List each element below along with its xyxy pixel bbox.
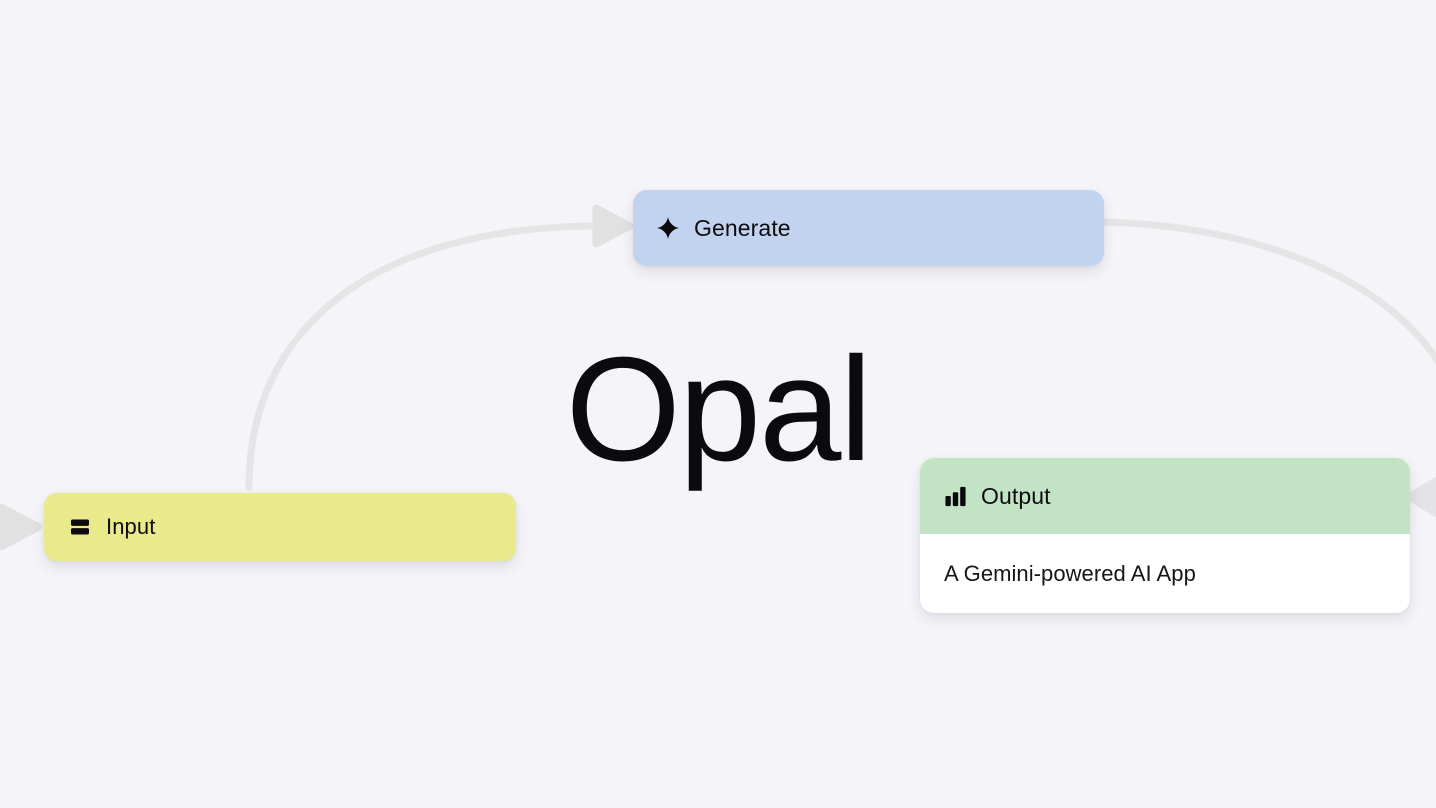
opal-wordmark: Opal xyxy=(0,336,1436,484)
node-output-body: A Gemini-powered AI App xyxy=(920,534,1410,613)
bar-chart-icon xyxy=(942,483,968,509)
node-input-header: Input xyxy=(44,493,516,561)
node-input-label: Input xyxy=(106,516,155,538)
node-input[interactable]: Input xyxy=(44,493,516,561)
edge-into-input-arrowhead xyxy=(2,508,38,546)
node-generate[interactable]: Generate xyxy=(633,190,1104,266)
node-output-body-text: A Gemini-powered AI App xyxy=(944,560,1196,588)
node-generate-header: Generate xyxy=(633,190,1104,266)
short-text-input-icon xyxy=(67,514,93,540)
node-generate-label: Generate xyxy=(694,217,791,240)
sparkle-icon xyxy=(655,215,681,241)
workflow-canvas: Generate Input Output xyxy=(0,0,1436,808)
edge-input-to-generate-arrowhead xyxy=(596,208,630,244)
node-output-label: Output xyxy=(981,485,1051,508)
edge-into-output-arrowhead xyxy=(1408,480,1436,514)
